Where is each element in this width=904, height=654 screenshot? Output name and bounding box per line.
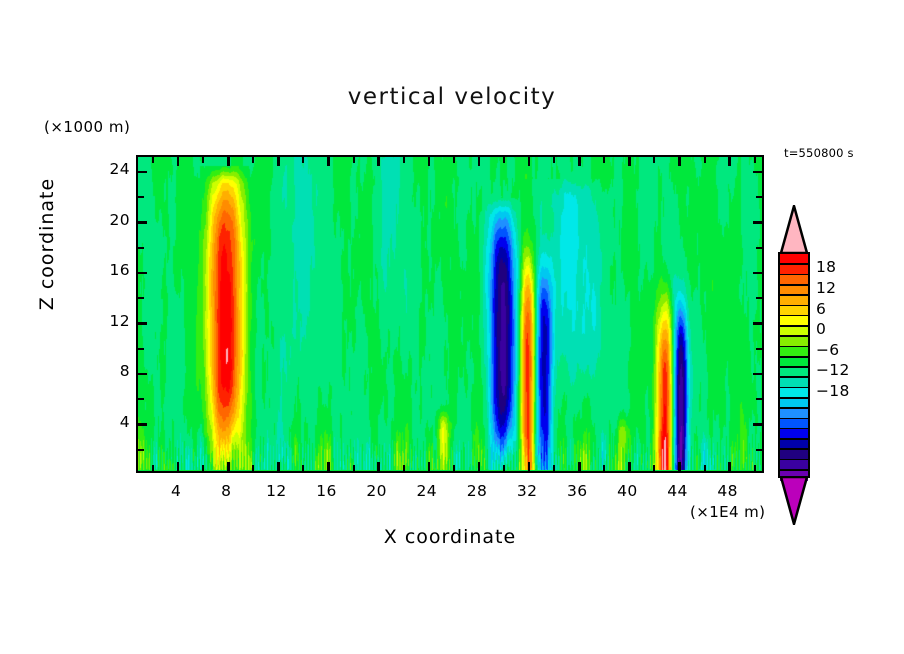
axis-tick [553,465,555,471]
axis-tick [478,462,481,471]
axis-tick [753,423,762,426]
axis-tick [227,462,230,471]
figure-canvas: vertical velocity (×1000 m) t=550800 s 2… [0,0,904,654]
x-tick-label: 48 [706,482,750,500]
y-tick-label: 16 [90,261,130,279]
x-tick-label: 16 [305,482,349,500]
axis-tick [753,373,762,376]
plot-area [136,155,764,473]
y-tick-label: 4 [90,413,130,431]
colorbar: 181260−6−12−18 [778,205,810,523]
axis-tick [202,157,204,163]
y-tick-label: 24 [90,160,130,178]
axis-tick [353,465,355,471]
axis-tick [528,157,531,166]
x-axis-tick-labels: 4812162024283236404448 [136,482,764,504]
axis-tick [756,297,762,299]
axis-tick [753,322,762,325]
axis-tick [756,348,762,350]
y-axis-title: Z coordinate [36,164,58,324]
axis-tick [138,423,147,426]
x-tick-label: 40 [605,482,649,500]
x-tick-label: 8 [204,482,248,500]
colorbar-over-arrow [778,205,810,254]
colorbar-band-divider [780,448,808,450]
axis-tick [138,322,147,325]
colorbar-label: −6 [816,341,839,359]
axis-tick [277,157,280,166]
axis-tick [678,462,681,471]
colorbar-band-divider [780,459,808,461]
axis-tick [728,157,731,166]
axis-tick [327,157,330,166]
axis-tick [138,221,147,224]
y-tick-label: 8 [90,362,130,380]
axis-tick [578,462,581,471]
colorbar-band-divider [780,428,808,430]
axis-tick [138,373,147,376]
x-tick-label: 36 [555,482,599,500]
axis-tick [653,465,655,471]
axis-tick [428,462,431,471]
axis-tick [753,272,762,275]
axis-tick [403,465,405,471]
axis-tick [403,157,405,163]
x-tick-label: 28 [455,482,499,500]
colorbar-band-divider [780,469,808,471]
y-axis-unit-label: (×1000 m) [44,118,130,136]
axis-tick [138,297,144,299]
axis-tick [138,272,147,275]
colorbar-band-divider [780,387,808,389]
axis-tick [453,465,455,471]
axis-tick [754,465,756,471]
axis-tick [704,465,706,471]
colorbar-label: 18 [816,258,836,276]
x-tick-label: 32 [505,482,549,500]
y-axis-tick-labels: 2420161284 [86,155,130,473]
axis-tick [553,157,555,163]
y-tick-label: 20 [90,211,130,229]
x-tick-label: 44 [656,482,700,500]
axis-tick [756,398,762,400]
axis-tick [353,157,355,163]
axis-tick [628,462,631,471]
colorbar-band-divider [780,397,808,399]
colorbar-band-divider [780,366,808,368]
axis-tick [152,465,154,471]
colorbar-label: 0 [816,320,826,338]
colorbar-band-divider [780,325,808,327]
axis-tick [138,449,144,451]
colorbar-label: 6 [816,300,826,318]
axis-tick [728,462,731,471]
axis-tick [528,462,531,471]
colorbar-band-divider [780,274,808,276]
axis-tick [302,465,304,471]
x-tick-label: 20 [355,482,399,500]
axis-tick [177,157,180,166]
axis-tick [503,465,505,471]
axis-tick [453,157,455,163]
axis-tick [428,157,431,166]
colorbar-band-divider [780,263,808,265]
axis-tick [177,462,180,471]
axis-tick [754,157,756,163]
colorbar-bands [778,252,810,478]
colorbar-under-arrow [778,476,810,525]
axis-tick [704,157,706,163]
axis-tick [252,157,254,163]
colorbar-band-divider [780,315,808,317]
colorbar-band-divider [780,305,808,307]
axis-tick [377,157,380,166]
x-tick-label: 24 [405,482,449,500]
axis-tick [152,157,154,163]
x-tick-label: 12 [254,482,298,500]
axis-tick [756,449,762,451]
axis-tick [138,171,147,174]
axis-tick [653,157,655,163]
x-axis-title: X coordinate [136,526,764,548]
axis-tick [327,462,330,471]
colorbar-band-divider [780,294,808,296]
axis-tick [377,462,380,471]
colorbar-band-divider [780,356,808,358]
colorbar-band-divider [780,335,808,337]
colorbar-band-divider [780,376,808,378]
axis-tick [756,247,762,249]
colorbar-band-divider [780,346,808,348]
axis-tick [202,465,204,471]
x-tick-label: 4 [154,482,198,500]
axis-tick [503,157,505,163]
y-tick-label: 12 [90,312,130,330]
axis-tick [138,348,144,350]
colorbar-band-divider [780,284,808,286]
axis-tick [277,462,280,471]
axis-tick [252,465,254,471]
colorbar-band-divider [780,418,808,420]
axis-tick [753,171,762,174]
axis-tick [756,196,762,198]
axis-tick [753,221,762,224]
time-annotation: t=550800 s [784,146,854,160]
colorbar-label: −18 [816,382,850,400]
axis-tick [578,157,581,166]
axis-tick [478,157,481,166]
axis-tick [628,157,631,166]
axis-tick [138,247,144,249]
axis-tick [227,157,230,166]
colorbar-band-divider [780,407,808,409]
colorbar-label: −12 [816,361,850,379]
axis-tick [678,157,681,166]
axis-tick [603,157,605,163]
colorbar-label: 12 [816,279,836,297]
axis-tick [302,157,304,163]
axis-tick [138,398,144,400]
x-axis-unit-label: (×1E4 m) [690,503,765,521]
axis-tick [603,465,605,471]
colorbar-band-divider [780,438,808,440]
contour-field [138,157,761,470]
page-title: vertical velocity [0,84,904,110]
axis-tick [138,196,144,198]
